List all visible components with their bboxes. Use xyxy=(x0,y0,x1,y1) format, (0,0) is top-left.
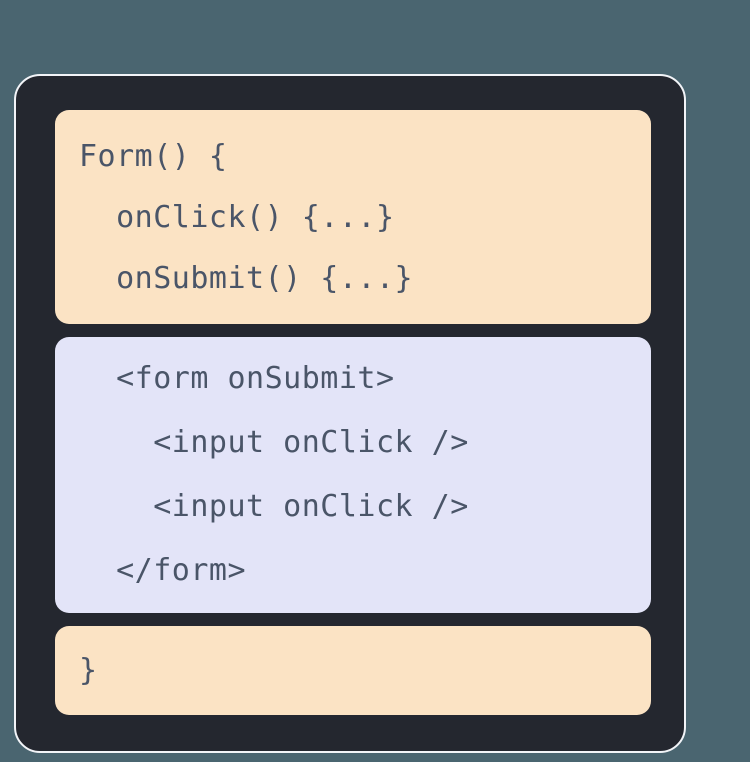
code-panel-component-declaration: Form() { onClick() {...} onSubmit() {...… xyxy=(55,110,651,324)
code-container: Form() { onClick() {...} onSubmit() {...… xyxy=(14,74,686,753)
code-line: <form onSubmit> xyxy=(79,347,627,411)
code-line: onClick() {...} xyxy=(79,187,627,248)
screenshot-canvas: Form() { onClick() {...} onSubmit() {...… xyxy=(0,0,750,762)
code-line: <input onClick /> xyxy=(79,475,627,539)
code-line: </form> xyxy=(79,539,627,603)
code-panel-component-close: } xyxy=(55,626,651,715)
code-line: onSubmit() {...} xyxy=(79,248,627,309)
code-line: <input onClick /> xyxy=(79,411,627,475)
code-line: } xyxy=(79,648,627,694)
code-panel-markup-block: <form onSubmit> <input onClick /> <input… xyxy=(55,337,651,613)
code-line: Form() { xyxy=(79,126,627,187)
